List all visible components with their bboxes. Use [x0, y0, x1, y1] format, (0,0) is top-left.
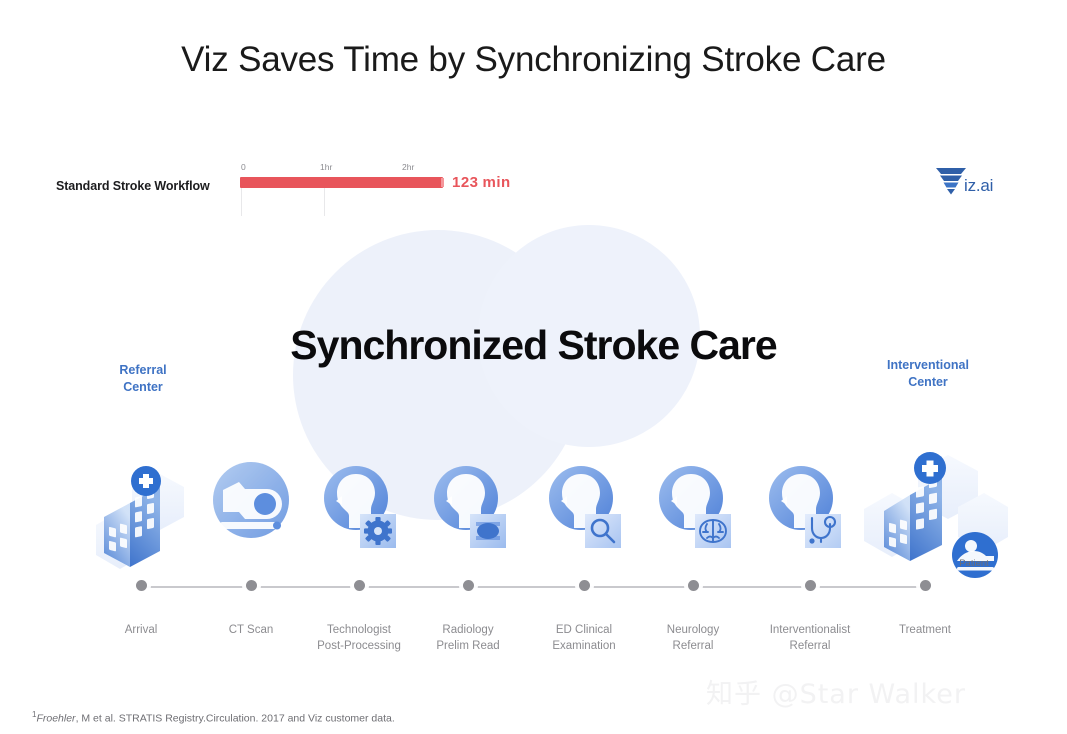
step-icon-arrival[interactable] [86, 455, 196, 580]
standard-workflow-minutes: 123 [452, 174, 479, 191]
step-label-line1: ED Clinical [524, 622, 644, 638]
step-label-ct-scan: CT Scan [191, 622, 311, 638]
track-segment-3 [359, 586, 468, 588]
step-label-line2: Referral [750, 638, 870, 654]
step-label-radiology: Radiology Prelim Read [408, 622, 528, 654]
slide-canvas: Viz Saves Time by Synchronizing Stroke C… [0, 0, 1067, 734]
standard-workflow-label: Standard Stroke Workflow [56, 179, 210, 193]
interventional-center-line2: Center [863, 374, 993, 391]
workflow-progress-track [0, 580, 1067, 594]
page-title: Viz Saves Time by Synchronizing Stroke C… [0, 40, 1067, 80]
track-dot-4[interactable] [463, 580, 474, 591]
standard-workflow-bar [240, 177, 443, 188]
step-label-line1: Interventionalist [750, 622, 870, 638]
workflow-icon-row [0, 410, 1067, 580]
vizai-logo[interactable]: iz.ai [934, 163, 1034, 203]
standard-workflow-row: Standard Stroke Workflow 0 1hr 2hr [0, 160, 1067, 220]
step-icon-ct-scan[interactable] [205, 456, 297, 548]
interventional-center-label: Interventional Center [863, 357, 993, 391]
step-label-line1: Arrival [81, 622, 201, 638]
track-dot-6[interactable] [688, 580, 699, 591]
footnote: 1Froehler, M et al. STRATIS Registry.Cir… [32, 710, 395, 725]
vizai-logo-icon [934, 163, 968, 197]
footnote-citation-rest: , M et al. STRATIS Registry.Circulation.… [76, 713, 395, 725]
watermark: 知乎 @Star Walker [706, 672, 966, 711]
step-icon-radiology[interactable] [430, 462, 510, 552]
standard-workflow-value: 123min [452, 174, 511, 191]
step-icon-technologist[interactable] [320, 462, 400, 552]
step-label-interventionalist: Interventionalist Referral [750, 622, 870, 654]
standard-workflow-bar-fill [240, 177, 443, 188]
track-dot-7[interactable] [805, 580, 816, 591]
step-icon-interventionalist[interactable] [765, 462, 845, 552]
hospital-building-icon [86, 455, 196, 580]
patient-caption: Patient [936, 558, 1012, 569]
step-label-line2: Post-Processing [299, 638, 419, 654]
step-label-line2: Prelim Read [408, 638, 528, 654]
step-label-line1: Technologist [299, 622, 419, 638]
step-label-ed-clinical: ED Clinical Examination [524, 622, 644, 654]
step-label-line1: Treatment [865, 622, 985, 638]
step-label-line1: CT Scan [191, 622, 311, 638]
step-icon-ed-clinical[interactable] [545, 462, 625, 552]
axis-tick-label-0: 0 [241, 162, 246, 172]
ct-scanner-icon [205, 456, 297, 548]
head-magnifier-icon [545, 462, 625, 552]
step-label-line1: Neurology [633, 622, 753, 638]
track-dot-2[interactable] [246, 580, 257, 591]
head-gear-icon [320, 462, 400, 552]
step-label-treatment: Treatment [865, 622, 985, 638]
step-label-arrival: Arrival [81, 622, 201, 638]
track-segment-6 [693, 586, 810, 588]
patient-avatar-icon [952, 532, 998, 578]
step-label-technologist: Technologist Post-Processing [299, 622, 419, 654]
track-dot-1[interactable] [136, 580, 147, 591]
track-dot-5[interactable] [579, 580, 590, 591]
head-brain-icon [655, 462, 735, 552]
referral-center-line2: Center [93, 379, 193, 396]
track-segment-4 [468, 586, 584, 588]
standard-workflow-unit: min [483, 174, 511, 191]
track-segment-1 [141, 586, 251, 588]
head-brain-scan-icon [430, 462, 510, 552]
referral-center-label: Referral Center [93, 362, 193, 396]
step-label-neurology: Neurology Referral [633, 622, 753, 654]
step-icon-neurology[interactable] [655, 462, 735, 552]
track-segment-7 [810, 586, 925, 588]
track-segment-2 [251, 586, 359, 588]
step-label-line1: Radiology [408, 622, 528, 638]
referral-center-line1: Referral [93, 362, 193, 379]
interventional-center-line1: Interventional [863, 357, 993, 374]
timeline-axis: 0 1hr 2hr [240, 160, 450, 218]
track-dot-8[interactable] [920, 580, 931, 591]
track-segment-5 [584, 586, 693, 588]
axis-tick-label-2hr: 2hr [402, 162, 414, 172]
step-label-line2: Examination [524, 638, 644, 654]
track-dot-3[interactable] [354, 580, 365, 591]
step-label-line2: Referral [633, 638, 753, 654]
axis-tick-label-1hr: 1hr [320, 162, 332, 172]
standard-workflow-bar-cap [441, 178, 444, 187]
footnote-citation-author: Froehler [36, 713, 75, 725]
vizai-wordmark: iz.ai [964, 176, 993, 196]
head-stethoscope-icon [765, 462, 845, 552]
